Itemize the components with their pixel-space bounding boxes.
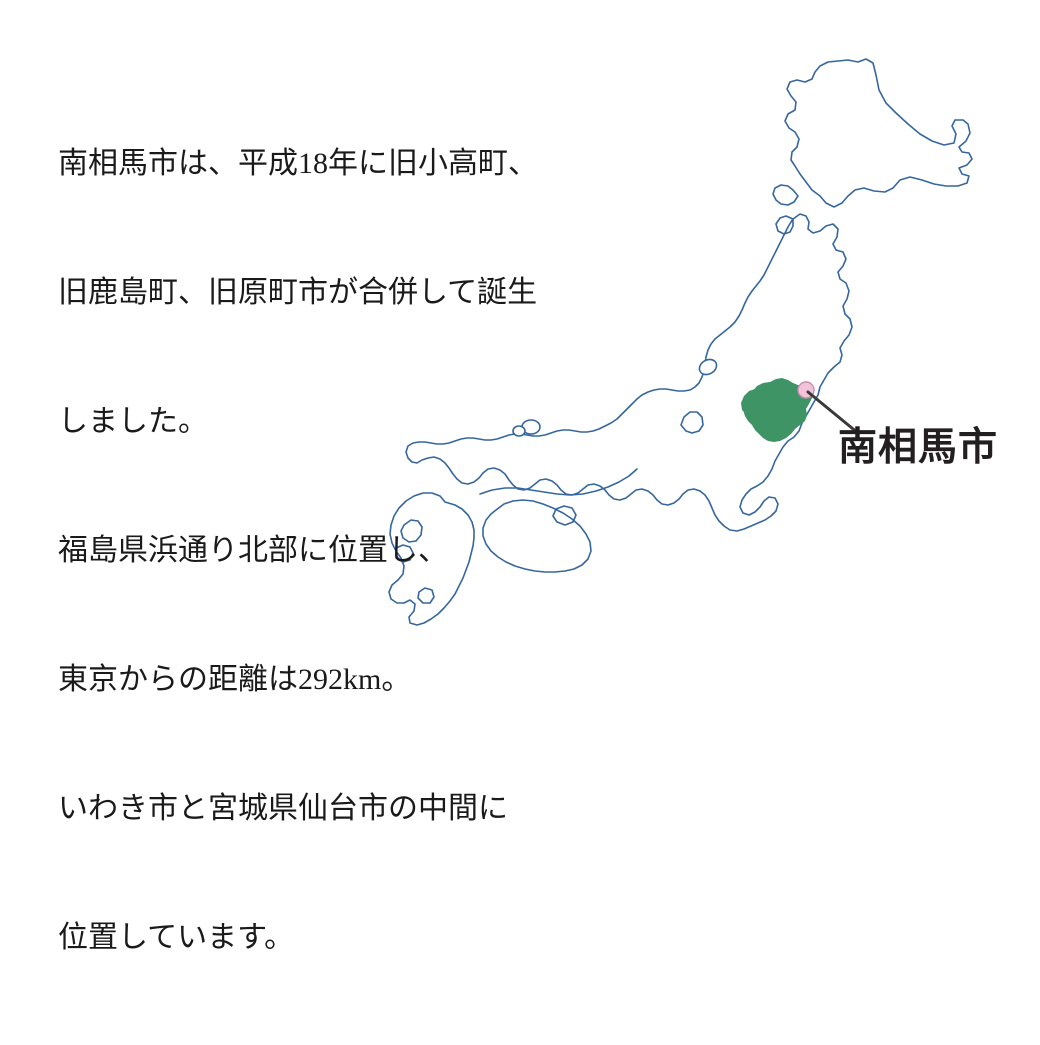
- description-line-2: 旧鹿島町、旧原町市が合併して誕生: [58, 271, 598, 314]
- description-line-5: 東京からの距離は292km。: [58, 658, 598, 701]
- description-text-block: 南相馬市は、平成18年に旧小高町、 旧鹿島町、旧原町市が合併して誕生 しました。…: [58, 56, 598, 1045]
- description-line-3: しました。: [58, 400, 598, 443]
- hokkaido-outline: [785, 59, 972, 207]
- tsugaru-strait-notch: [773, 185, 798, 205]
- description-line-4: 福島県浜通り北部に位置し、: [58, 529, 598, 572]
- description-line-1: 南相馬市は、平成18年に旧小高町、: [58, 142, 598, 185]
- minamisoma-callout-label: 南相馬市: [838, 428, 998, 467]
- page-canvas: 南相馬市は、平成18年に旧小高町、 旧鹿島町、旧原町市が合併して誕生 しました。…: [0, 0, 1040, 646]
- description-line-7: 位置しています。: [58, 916, 598, 959]
- description-line-6: いわき市と宮城県仙台市の中間に: [58, 787, 598, 830]
